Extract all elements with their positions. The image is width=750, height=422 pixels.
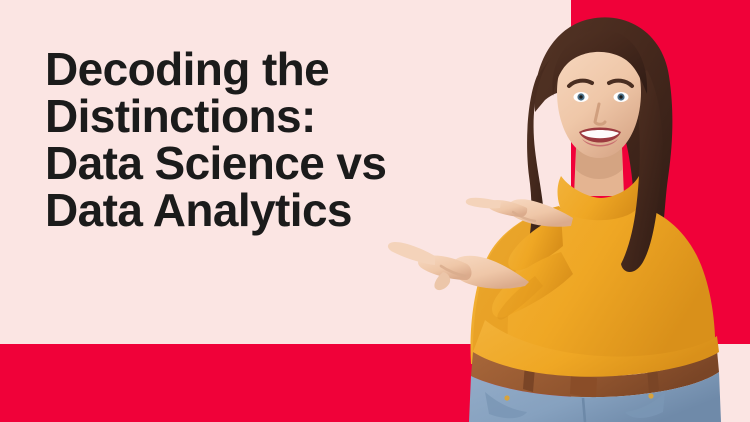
jeans-rivet-right — [648, 393, 653, 398]
headline-line-1: Decoding the — [45, 46, 475, 93]
belt-buckle — [570, 374, 597, 398]
banner-headline: Decoding the Distinctions: Data Science … — [45, 46, 475, 234]
pupil-left — [579, 95, 582, 98]
index-finger-lower — [388, 242, 435, 265]
pupil-right — [619, 95, 622, 98]
headline-line-2: Distinctions: — [45, 93, 475, 140]
jeans-rivet-left — [504, 395, 509, 400]
headline-line-3: Data Science vs — [45, 140, 475, 187]
headline-line-4: Data Analytics — [45, 187, 475, 234]
blog-hero-banner: Decoding the Distinctions: Data Science … — [0, 0, 750, 422]
